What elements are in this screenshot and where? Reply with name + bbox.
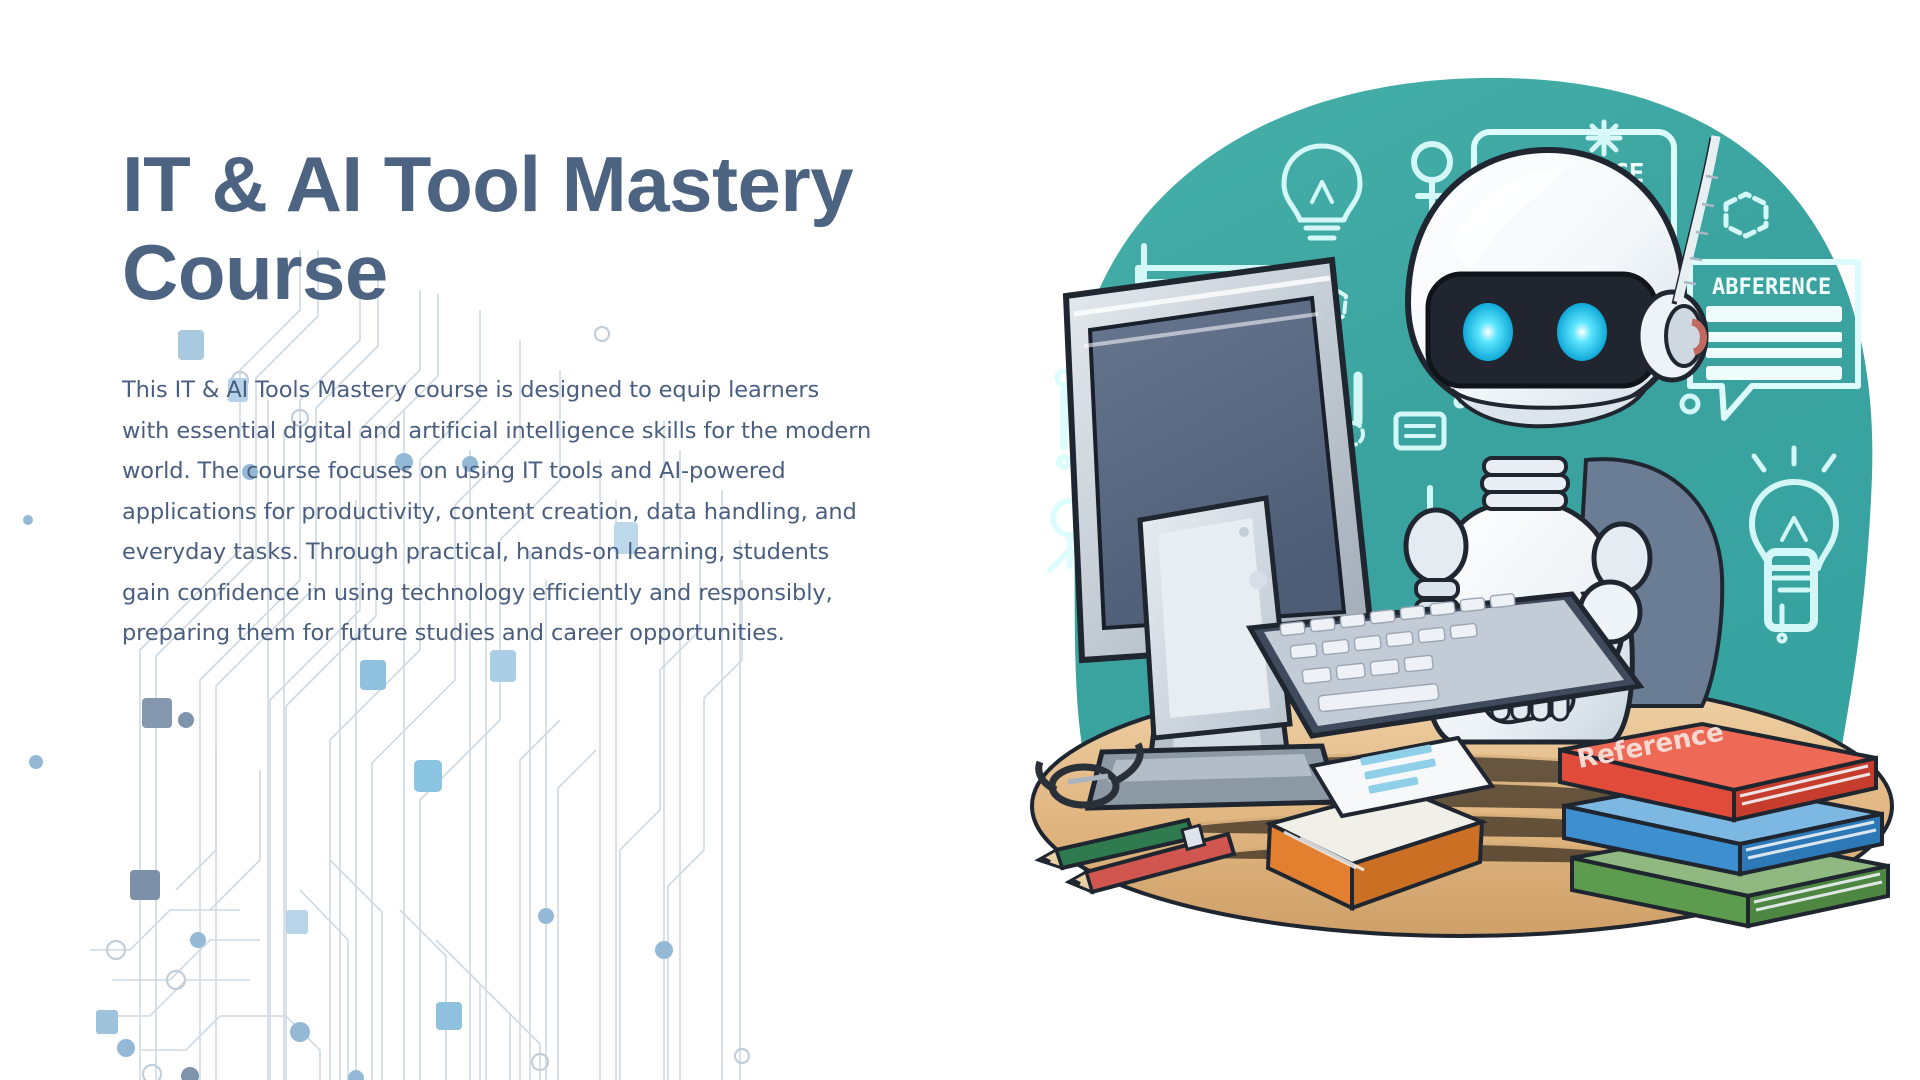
slide-canvas: IT & AI Tool Mastery Course This IT & AI…	[0, 0, 1920, 1080]
text-column: IT & AI Tool Mastery Course This IT & AI…	[122, 140, 882, 654]
page-title: IT & AI Tool Mastery Course	[122, 140, 882, 316]
ai-robot-illustration: REFURATCE ABFERENCE	[1012, 46, 1908, 946]
sparkle-icon	[1588, 122, 1620, 154]
robot-eye-left	[1463, 303, 1513, 361]
robot-headphone	[1638, 292, 1706, 380]
speech-bubble-label: ABFERENCE	[1712, 275, 1831, 300]
course-description: This IT & AI Tools Mastery course is des…	[122, 370, 872, 654]
tablet-device	[1140, 498, 1290, 738]
robot-eye-right	[1557, 303, 1607, 361]
